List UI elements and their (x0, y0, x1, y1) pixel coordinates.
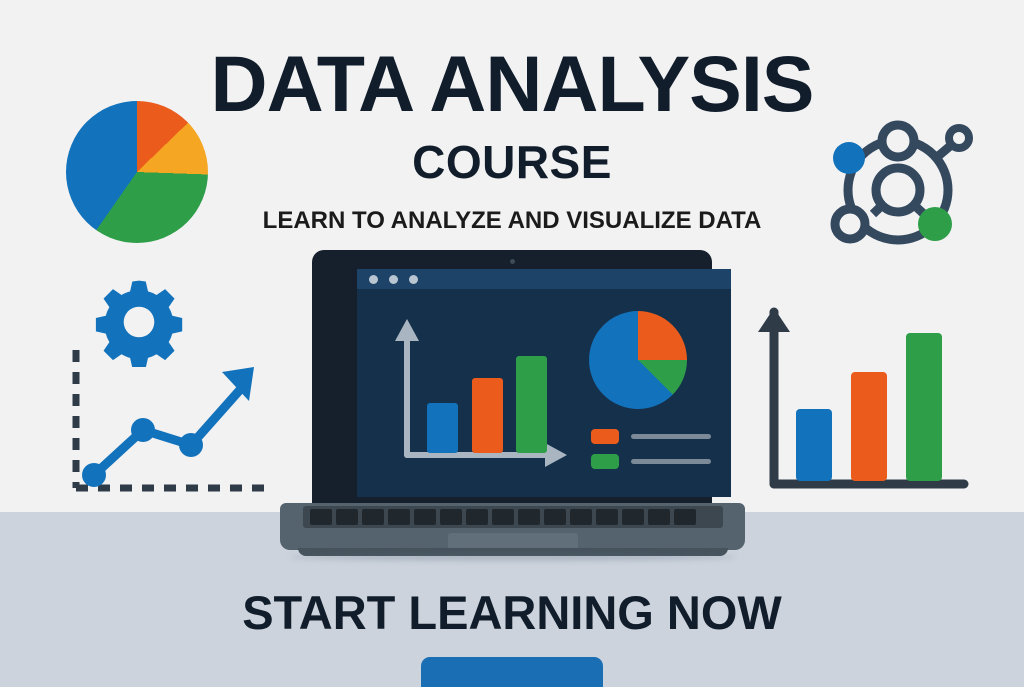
legend-row (591, 429, 715, 444)
pie-chart-laptop (589, 311, 687, 409)
keyboard-key (622, 509, 644, 525)
keyboard-key (492, 509, 514, 525)
bar-1 (427, 403, 458, 453)
laptop-shadow (290, 554, 736, 560)
legend-placeholder-line (631, 434, 711, 439)
line-chart-left (66, 345, 276, 500)
keyboard-key (440, 509, 462, 525)
keyboard-key (466, 509, 488, 525)
keyboard-key (544, 509, 566, 525)
bar-2 (851, 372, 887, 481)
data-point (179, 433, 203, 457)
page-title: DATA ANALYSIS (0, 44, 1024, 123)
keyboard-key (388, 509, 410, 525)
keyboard-key (674, 509, 696, 525)
dashboard-legend (591, 429, 715, 479)
keyboard-key (310, 509, 332, 525)
legend-placeholder-line (631, 459, 711, 464)
window-dot-1[interactable] (369, 275, 378, 284)
headline-block: DATA ANALYSIS COURSE LEARN TO ANALYZE AN… (0, 44, 1024, 233)
page-subtitle: COURSE (0, 139, 1024, 185)
legend-swatch-orange (591, 429, 619, 444)
trend-line (94, 383, 246, 475)
start-learning-button[interactable] (421, 657, 603, 687)
dashboard-body (357, 289, 731, 497)
window-dot-2[interactable] (389, 275, 398, 284)
laptop-lid (312, 250, 712, 508)
laptop-screen (357, 269, 731, 497)
y-axis-arrow (758, 308, 790, 332)
bar-3 (906, 333, 942, 481)
bar-2 (472, 378, 503, 453)
y-axis-arrow (395, 319, 419, 341)
keyboard-key (414, 509, 436, 525)
bar-3 (516, 356, 547, 453)
bar-1 (796, 409, 832, 481)
window-titlebar (357, 269, 731, 289)
cta-heading: START LEARNING NOW (0, 589, 1024, 636)
laptop-illustration (280, 250, 745, 570)
keyboard-key (518, 509, 540, 525)
keyboard-key (596, 509, 618, 525)
x-axis-arrow (545, 443, 567, 467)
webcam-icon (510, 259, 515, 264)
tagline: LEARN TO ANALYZE AND VISUALIZE DATA (0, 209, 1024, 233)
poster-canvas: DATA ANALYSIS COURSE LEARN TO ANALYZE AN… (0, 0, 1024, 687)
window-dot-3[interactable] (409, 275, 418, 284)
legend-row (591, 454, 715, 469)
bar-chart-right (752, 302, 977, 502)
keyboard-key (336, 509, 358, 525)
legend-swatch-green (591, 454, 619, 469)
keyboard-key (648, 509, 670, 525)
keyboard-key (362, 509, 384, 525)
data-point (82, 463, 106, 487)
data-point (131, 418, 155, 442)
bar-chart-laptop (385, 307, 575, 479)
keyboard-key (570, 509, 592, 525)
